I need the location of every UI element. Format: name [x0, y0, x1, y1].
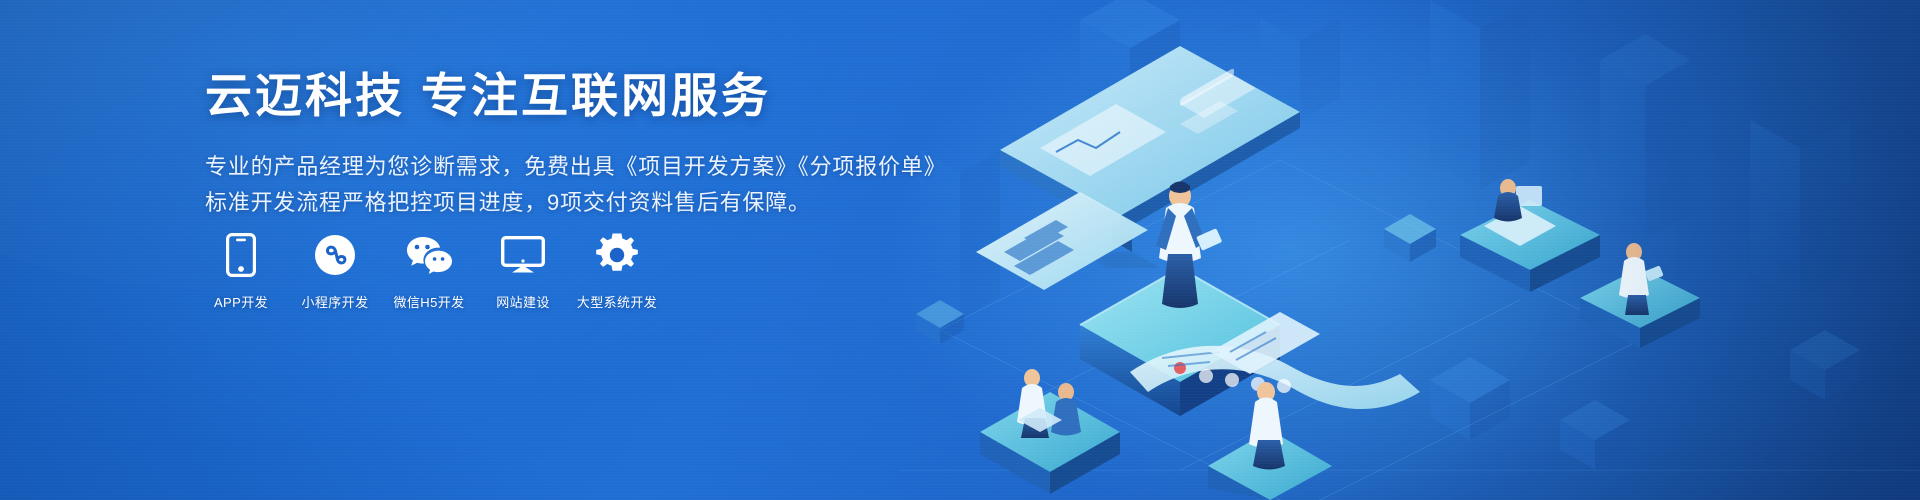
- hero-banner: 云迈科技 专注互联网服务 专业的产品经理为您诊断需求，免费出具《项目开发方案》《…: [0, 0, 1920, 500]
- page-title: 云迈科技 专注互联网服务: [205, 68, 965, 123]
- isometric-tech-team-illustration: [880, 0, 1920, 500]
- service-item-website[interactable]: 网站建设: [487, 232, 559, 311]
- service-item-wechat-h5[interactable]: 微信H5开发: [393, 232, 465, 311]
- service-label: APP开发: [214, 292, 268, 311]
- banner-content: 云迈科技 专注互联网服务 专业的产品经理为您诊断需求，免费出具《项目开发方案》《…: [205, 68, 965, 221]
- mini-program-icon: [314, 232, 356, 278]
- mobile-phone-icon: [226, 232, 256, 278]
- subtitle-line-2: 标准开发流程严格把控项目进度，9项交付资料售后有保障。: [205, 185, 965, 221]
- service-item-mini-program[interactable]: 小程序开发: [299, 232, 371, 311]
- service-item-large-system[interactable]: 大型系统开发: [581, 232, 653, 311]
- service-item-app[interactable]: APP开发: [205, 232, 277, 311]
- gear-icon: [595, 232, 639, 278]
- service-label: 微信H5开发: [393, 292, 464, 311]
- subtitle-line-1: 专业的产品经理为您诊断需求，免费出具《项目开发方案》《分项报价单》: [205, 149, 965, 185]
- monitor-icon: [501, 232, 545, 278]
- subtitle-block: 专业的产品经理为您诊断需求，免费出具《项目开发方案》《分项报价单》 标准开发流程…: [205, 149, 965, 220]
- service-list: APP开发 小程序开发: [205, 232, 653, 311]
- wechat-icon: [406, 232, 452, 278]
- service-label: 大型系统开发: [577, 292, 657, 311]
- service-label: 小程序开发: [301, 292, 368, 311]
- service-label: 网站建设: [496, 292, 550, 311]
